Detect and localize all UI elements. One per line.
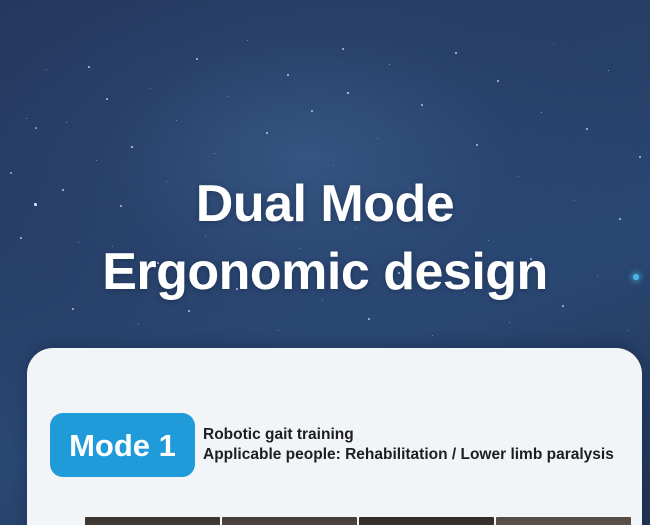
photo-thumbnail	[359, 517, 494, 525]
star-dot-icon	[476, 144, 478, 146]
star-dot-icon	[311, 110, 313, 112]
star-dot-icon	[176, 120, 177, 121]
star-dot-icon	[247, 40, 248, 41]
star-dot-icon	[228, 96, 229, 97]
star-dot-icon	[266, 132, 268, 134]
star-dot-icon	[46, 69, 47, 70]
star-dot-icon	[342, 48, 344, 50]
star-dot-icon	[287, 74, 289, 76]
photo-thumbnail	[496, 517, 631, 525]
star-dot-icon	[509, 322, 510, 323]
star-dot-icon	[196, 58, 198, 60]
photo-thumbnail	[85, 517, 220, 525]
star-dot-icon	[497, 80, 499, 82]
star-dot-icon	[66, 122, 67, 123]
mode-description: Robotic gait training Applicable people:…	[203, 425, 614, 465]
star-dot-icon	[541, 112, 542, 113]
star-dot-icon	[106, 98, 108, 100]
star-dot-icon	[96, 160, 97, 161]
photo-thumbnail-strip	[85, 517, 631, 525]
page-title: Dual Mode Ergonomic design	[0, 170, 650, 306]
star-dot-icon	[150, 88, 151, 89]
star-dot-icon	[377, 138, 378, 139]
star-dot-icon	[278, 330, 279, 331]
star-dot-icon	[188, 310, 190, 312]
mode-badge-label: Mode 1	[69, 430, 176, 461]
star-dot-icon	[138, 323, 139, 324]
mode-subtitle: Applicable people: Rehabilitation / Lowe…	[203, 445, 614, 465]
photo-thumbnail	[222, 517, 357, 525]
star-dot-icon	[389, 64, 390, 65]
mode-card: Mode 1 Robotic gait training Applicable …	[27, 348, 642, 525]
star-dot-icon	[333, 165, 334, 166]
star-dot-icon	[131, 146, 133, 148]
star-dot-icon	[88, 66, 90, 68]
star-dot-icon	[586, 128, 588, 130]
mode-row: Mode 1 Robotic gait training Applicable …	[50, 413, 614, 477]
mode-1-badge[interactable]: Mode 1	[50, 413, 195, 477]
star-dot-icon	[639, 156, 641, 158]
star-dot-icon	[35, 127, 37, 129]
slide-root: Dual Mode Ergonomic design Mode 1 Roboti…	[0, 0, 650, 525]
star-dot-icon	[72, 308, 74, 310]
star-dot-icon	[368, 318, 370, 320]
star-dot-icon	[432, 335, 433, 336]
star-dot-icon	[628, 330, 629, 331]
mode-title: Robotic gait training	[203, 425, 614, 445]
star-dot-icon	[553, 44, 554, 45]
star-dot-icon	[26, 118, 27, 119]
star-dot-icon	[421, 104, 423, 106]
star-dot-icon	[608, 70, 609, 71]
headline-line-2: Ergonomic design	[0, 238, 650, 306]
headline-line-1: Dual Mode	[0, 170, 650, 238]
star-dot-icon	[455, 52, 457, 54]
star-dot-icon	[347, 92, 349, 94]
star-dot-icon	[214, 153, 215, 154]
